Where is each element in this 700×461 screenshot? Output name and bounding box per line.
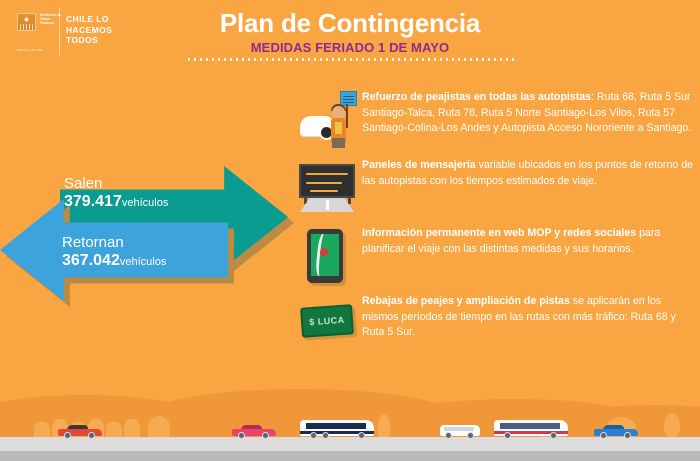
wheel-shape <box>600 432 607 439</box>
vehicle-car <box>594 426 638 439</box>
highway-scene <box>0 395 700 461</box>
measure-text: Paneles de mensajería variable ubicados … <box>362 156 696 189</box>
measure-bold: Refuerzo de peajistas en todas las autop… <box>362 91 591 103</box>
salen-value: 379.417 <box>64 193 122 210</box>
sign-board-shape <box>340 91 357 106</box>
palm-tree-shape <box>664 413 680 439</box>
vehicle-car <box>58 426 102 439</box>
phone-body-shape <box>307 229 343 283</box>
car-shape <box>300 116 334 136</box>
measure-text: Información permanente en web MOP y rede… <box>362 224 696 257</box>
traffic-stats-arrows: Salen 379.417vehículos Retornan 367.042v… <box>0 130 300 295</box>
phone-screen-shape <box>311 234 339 276</box>
salen-label: Salen <box>64 175 168 192</box>
measure-item: Refuerzo de peajistas en todas las autop… <box>296 88 696 152</box>
wheel-shape <box>310 432 317 439</box>
wheel-shape <box>624 432 631 439</box>
measure-bold: Información permanente en web MOP y rede… <box>362 227 636 239</box>
measure-item: $ LUCA Rebajas de peajes y ampliación de… <box>296 292 696 356</box>
dotted-divider <box>188 58 518 61</box>
bus-window-shape <box>500 423 560 429</box>
wheel-shape <box>445 432 452 439</box>
measure-text: Rebajas de peajes y ampliación de pistas… <box>362 292 696 341</box>
board-text-line <box>306 173 348 175</box>
vehicle-bus <box>494 419 568 439</box>
message-board-icon <box>298 158 358 216</box>
toll-worker-icon <box>298 90 358 148</box>
sign-pole-shape <box>346 104 348 128</box>
board-text-line <box>306 182 342 184</box>
measure-item: Información permanente en web MOP y rede… <box>296 224 696 288</box>
wheel-shape <box>238 432 245 439</box>
retornan-value: 367.042 <box>62 252 120 269</box>
wheel-shape <box>64 432 71 439</box>
measure-item: Paneles de mensajería variable ubicados … <box>296 156 696 220</box>
bus-window-shape <box>306 423 366 429</box>
banknote-icon: $ LUCA <box>298 294 358 352</box>
wheel-shape <box>504 432 511 439</box>
salen-stat: Salen 379.417vehículos <box>64 175 168 211</box>
measure-text: Refuerzo de peajistas en todas las autop… <box>362 88 696 137</box>
wheel-shape <box>550 432 557 439</box>
vehicle-van <box>440 424 480 439</box>
tree-shape <box>378 414 390 439</box>
smartphone-map-icon <box>298 226 358 284</box>
worker-legs-shape <box>332 138 345 148</box>
board-road-shape <box>300 198 354 212</box>
page-header: Ministerio de Obras Públicas Gobierno de… <box>0 0 700 70</box>
page-title: Plan de Contingencia <box>0 8 700 39</box>
board-panel-shape <box>299 164 355 198</box>
vehicle-bus <box>300 419 374 439</box>
banknote-label: $ LUCA <box>303 314 352 327</box>
wheel-shape <box>322 432 329 439</box>
wheel-shape <box>262 432 269 439</box>
wheel-shape <box>88 432 95 439</box>
tree-shape <box>148 416 170 439</box>
retornan-unit: vehículos <box>120 256 166 268</box>
board-text-line <box>310 190 338 192</box>
van-window-shape <box>444 427 474 431</box>
measure-bold: Paneles de mensajería <box>362 159 476 171</box>
measure-bold: Rebajas de peajes y ampliación de pistas <box>362 295 570 307</box>
measures-list: Refuerzo de peajistas en todas las autop… <box>296 88 696 360</box>
map-pin-shape <box>320 248 328 256</box>
bush-shape <box>124 419 140 439</box>
vehicle-car <box>232 426 276 439</box>
board-leg-shape <box>348 196 351 204</box>
salen-unit: vehículos <box>122 197 168 209</box>
road-shoulder <box>0 451 700 461</box>
wheel-shape <box>358 432 365 439</box>
banknote-shape: $ LUCA <box>300 304 354 338</box>
road-surface <box>0 437 700 451</box>
wheel-shape <box>467 432 474 439</box>
retornan-label: Retornan <box>62 234 166 251</box>
page-subtitle: MEDIDAS FERIADO 1 DE MAYO <box>0 40 700 55</box>
retornan-stat: Retornan 367.042vehículos <box>62 234 166 270</box>
